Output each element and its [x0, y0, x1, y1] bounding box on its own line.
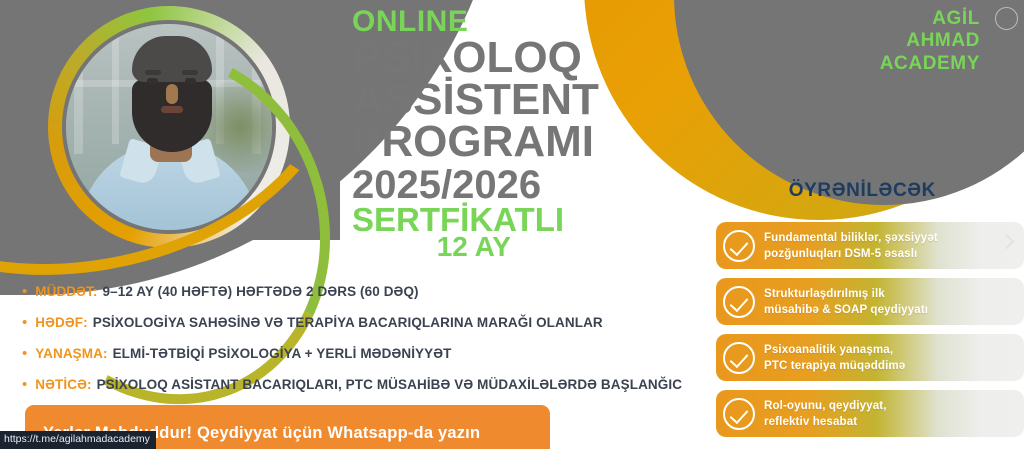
headline-line-1: PSİXOLOQ — [352, 37, 599, 79]
curriculum-card-line-2: reflektiv hesabat — [764, 414, 887, 429]
curriculum-card-line-2: pozğunluqları DSM-5 əsaslı — [764, 246, 938, 261]
headline-years: 2025/2026 — [352, 166, 599, 204]
bullet-dot-icon: • — [22, 315, 27, 330]
curriculum-card-text: Fundamental biliklər, şəxsiyyət pozğunlu… — [764, 230, 938, 261]
list-item: • MÜDDƏT: 9–12 AY (40 HƏFTƏ) HƏFTƏDƏ 2 D… — [22, 284, 692, 299]
curriculum-card[interactable]: Rol-oyunu, qeydiyyat, reflektiv hesabat — [716, 390, 1024, 437]
section-title-learn: ÖYRƏNİLƏCƏK — [789, 180, 936, 202]
academy-brand: AGİL AHMAD ACADEMY — [880, 8, 980, 75]
chevron-right-icon[interactable] — [999, 234, 1015, 250]
list-item-text: 9–12 AY (40 HƏFTƏ) HƏFTƏDƏ 2 DƏRS (60 DƏ… — [103, 284, 419, 299]
list-item-text: ELMİ-TƏTBİQİ PSİXOLOGİYA + YERLİ MƏDƏNİY… — [113, 346, 452, 361]
curriculum-card-line-1: Fundamental biliklər, şəxsiyyət — [764, 230, 938, 245]
curriculum-card[interactable]: Psixoanalitik yanaşma, PTC terapiya müqə… — [716, 334, 1024, 381]
bullet-dot-icon: • — [22, 346, 27, 361]
curriculum-card-line-1: Strukturlaşdırılmış ilk — [764, 286, 928, 301]
academy-line-3: ACADEMY — [880, 53, 980, 75]
curriculum-card-line-1: Psixoanalitik yanaşma, — [764, 342, 905, 357]
list-item: • HƏDƏF: PSİXOLOGİYA SAHƏSİNƏ VƏ TERAPİY… — [22, 315, 692, 330]
curriculum-card-line-1: Rol-oyunu, qeydiyyat, — [764, 398, 887, 413]
curriculum-card-text: Strukturlaşdırılmış ilk müsahibə & SOAP … — [764, 286, 928, 317]
list-item-label: MÜDDƏT: — [35, 284, 97, 299]
curriculum-card-text: Rol-oyunu, qeydiyyat, reflektiv hesabat — [764, 398, 887, 429]
curriculum-card[interactable]: Strukturlaşdırılmış ilk müsahibə & SOAP … — [716, 278, 1024, 325]
curriculum-card-line-2: PTC terapiya müqəddimə — [764, 358, 905, 373]
curriculum-card-line-2: müsahibə & SOAP qeydiyyatı — [764, 302, 928, 317]
bullet-dot-icon: • — [22, 284, 27, 299]
headline-line-3: PROGRAMI — [352, 121, 599, 163]
check-circle-icon — [723, 398, 755, 430]
poster-canvas: ONLINE PSİXOLOQ ASSİSTENT PROGRAMI 2025/… — [0, 0, 1024, 449]
headline-line-2: ASSİSTENT — [352, 79, 599, 121]
check-circle-icon — [723, 342, 755, 374]
details-list: • MÜDDƏT: 9–12 AY (40 HƏFTƏ) HƏFTƏDƏ 2 D… — [22, 284, 692, 408]
list-item-text: PSİXOLOGİYA SAHƏSİNƏ VƏ TERAPİYA BACARIQ… — [93, 315, 603, 330]
list-item: • NƏTİCƏ: PSİXOLOQ ASİSTANT BACARIQLARI,… — [22, 377, 692, 392]
list-item-label: NƏTİCƏ: — [35, 377, 91, 392]
curriculum-card-list: Fundamental biliklər, şəxsiyyət pozğunlu… — [716, 222, 1024, 446]
list-item-label: HƏDƏF: — [35, 315, 87, 330]
curriculum-card[interactable]: Fundamental biliklər, şəxsiyyət pozğunlu… — [716, 222, 1024, 269]
check-circle-icon — [723, 286, 755, 318]
check-circle-icon — [723, 230, 755, 262]
academy-line-2: AHMAD — [880, 30, 980, 52]
curriculum-card-text: Psixoanalitik yanaşma, PTC terapiya müqə… — [764, 342, 905, 373]
list-item-text: PSİXOLOQ ASİSTANT BACARIQLARI, PTC MÜSAH… — [97, 377, 683, 392]
bullet-dot-icon: • — [22, 377, 27, 392]
academy-line-1: AGİL — [880, 8, 980, 30]
headline-block: ONLINE PSİXOLOQ ASSİSTENT PROGRAMI 2025/… — [352, 8, 599, 260]
status-bar-url: https://t.me/agilahmadacademy — [0, 431, 156, 449]
list-item-label: YANAŞMA: — [35, 346, 107, 361]
list-item: • YANAŞMA: ELMİ-TƏTBİQİ PSİXOLOGİYA + YE… — [22, 346, 692, 361]
circle-outline-icon — [995, 7, 1018, 30]
